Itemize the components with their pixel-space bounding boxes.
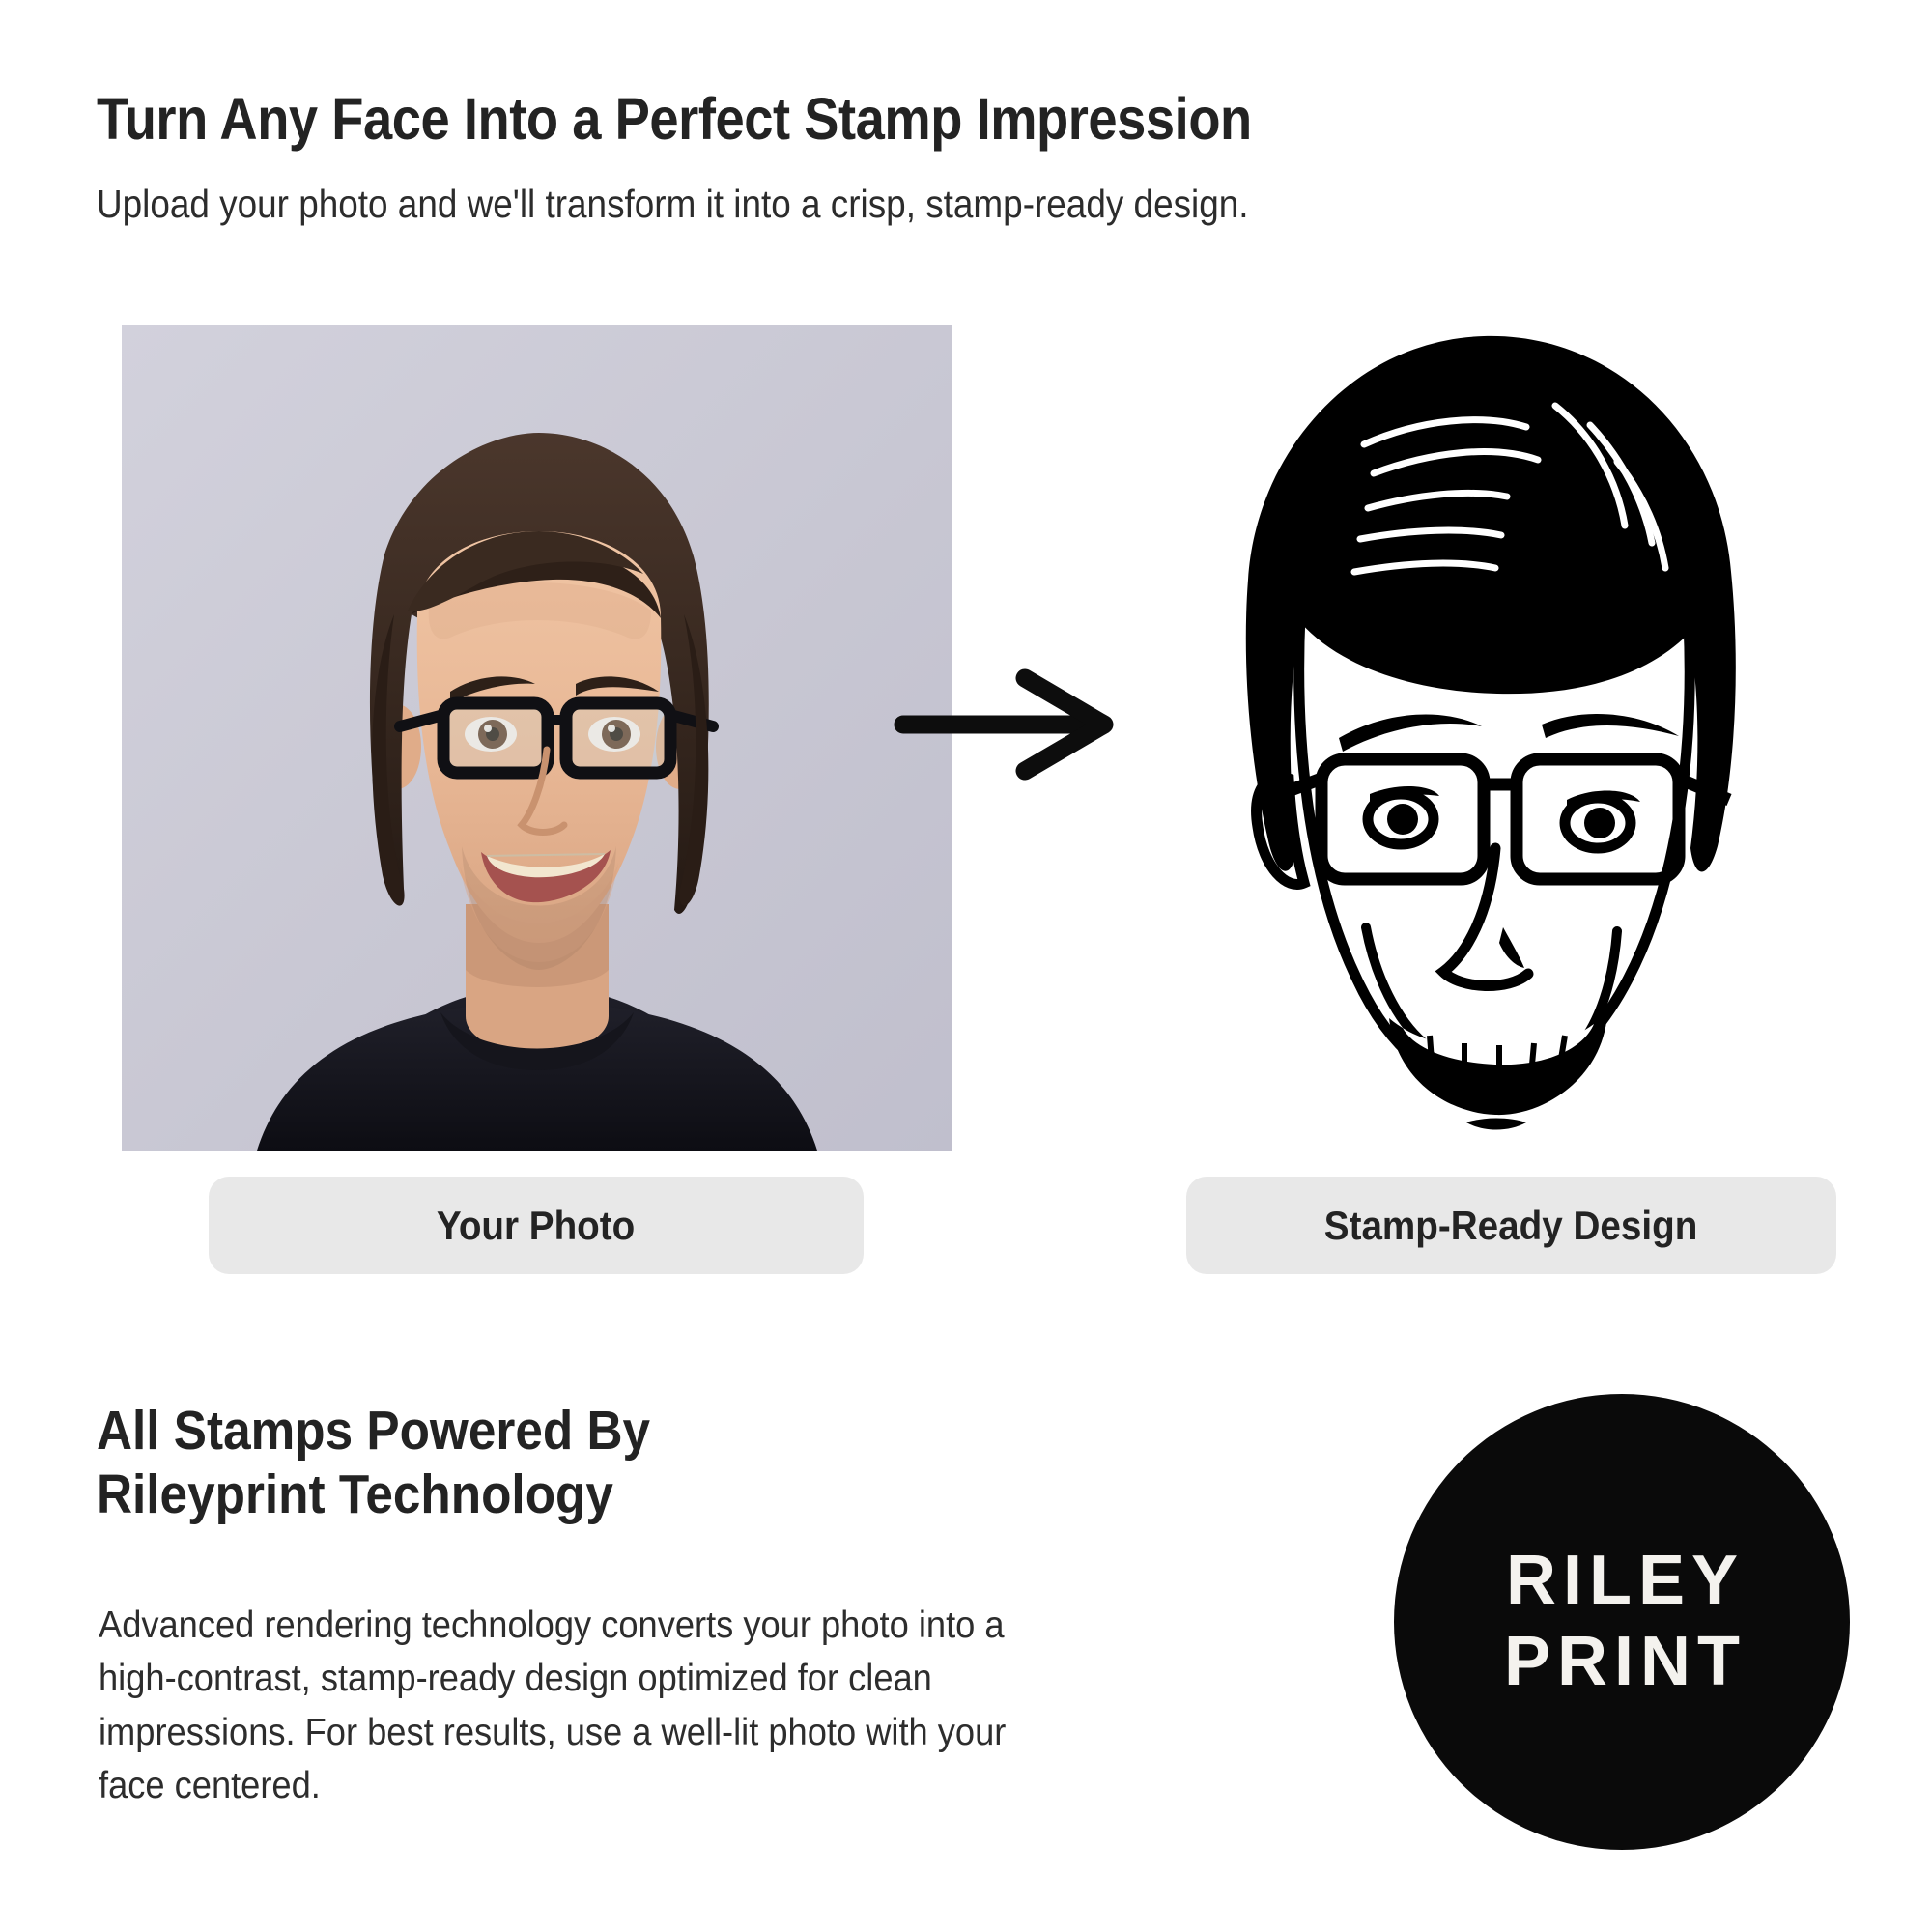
logo-line-riley: RILEY <box>1499 1544 1745 1619</box>
stamp-design-caption: Stamp-Ready Design <box>1186 1177 1836 1274</box>
logo-line-print: PRINT <box>1497 1625 1747 1700</box>
stamp-design-preview <box>1111 290 1845 1159</box>
rileyprint-logo: RILEY PRINT <box>1394 1394 1850 1850</box>
user-photo <box>122 325 952 1151</box>
your-photo-caption: Your Photo <box>209 1177 864 1274</box>
feature-description: Advanced rendering technology converts y… <box>99 1599 1033 1813</box>
page-title: Turn Any Face Into a Perfect Stamp Impre… <box>97 85 1252 153</box>
arrow-right-icon <box>894 667 1121 782</box>
feature-title-line-2: Rileyprint Technology <box>97 1463 650 1526</box>
stamp-promo-page: Turn Any Face Into a Perfect Stamp Impre… <box>0 0 1932 1932</box>
your-photo-caption-label: Your Photo <box>437 1203 635 1249</box>
feature-title-line-1: All Stamps Powered By <box>97 1399 650 1463</box>
feature-title: All Stamps Powered By Rileyprint Technol… <box>97 1399 650 1526</box>
page-subtitle: Upload your photo and we'll transform it… <box>97 182 1249 227</box>
stamp-design-caption-label: Stamp-Ready Design <box>1324 1203 1698 1249</box>
